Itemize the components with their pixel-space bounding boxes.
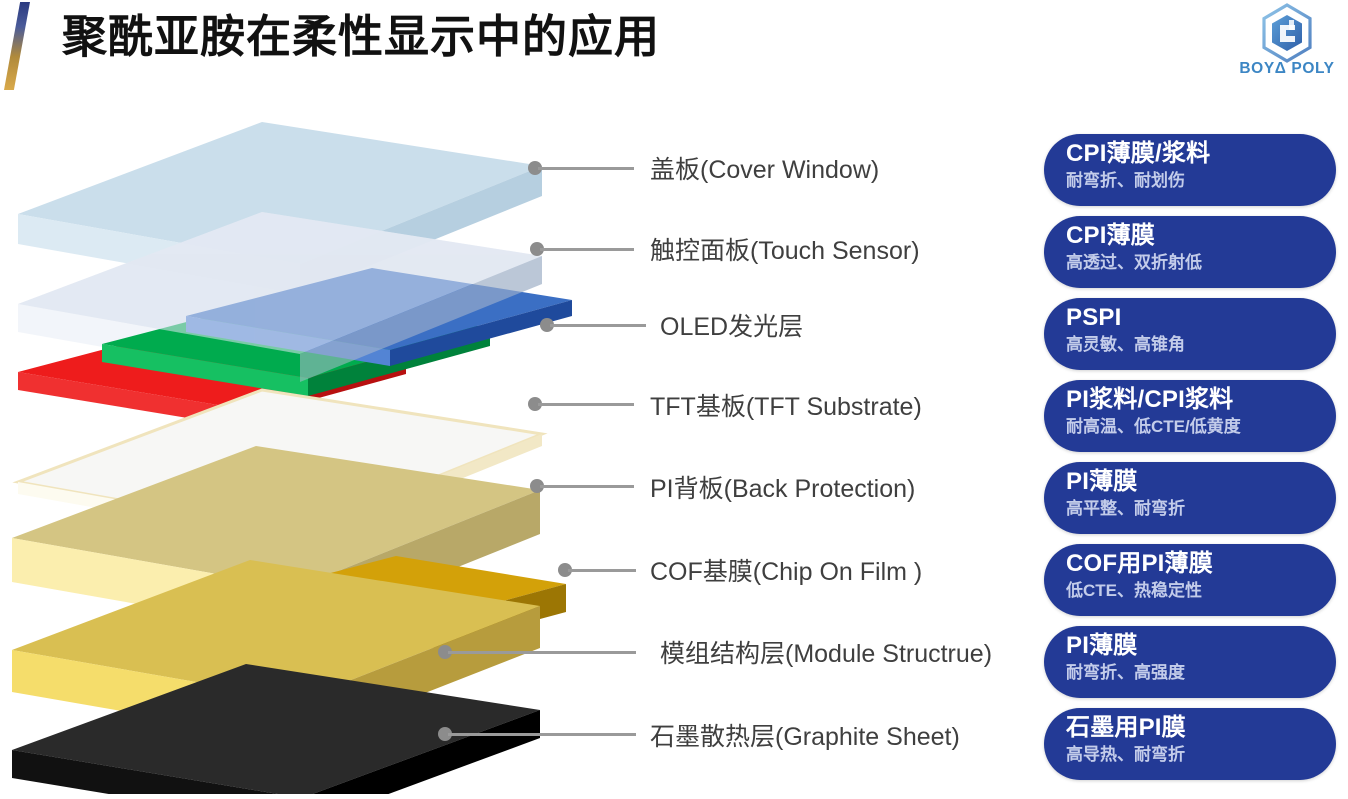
leader-line-back-protection: [540, 485, 634, 488]
material-pill-pspi[interactable]: PSPI 高灵敏、高锥角: [1044, 298, 1336, 370]
material-pill-pi-film-flat[interactable]: PI薄膜 高平整、耐弯折: [1044, 462, 1336, 534]
layer-label-tft-substrate: TFT基板(TFT Substrate): [650, 387, 922, 423]
pill-title: CPI薄膜/浆料: [1066, 139, 1336, 169]
page-title: 聚酰亚胺在柔性显示中的应用: [62, 7, 660, 67]
slide-root: 聚酰亚胺在柔性显示中的应用 BOYΔ: [0, 0, 1348, 794]
leader-line-cover-window: [538, 167, 634, 170]
material-pill-cpi-film[interactable]: CPI薄膜 高透过、双折射低: [1044, 216, 1336, 288]
pill-subtitle: 高平整、耐弯折: [1066, 497, 1336, 521]
pill-title: CPI薄膜: [1066, 221, 1336, 251]
material-pill-pi-film-strong[interactable]: PI薄膜 耐弯折、高强度: [1044, 626, 1336, 698]
leader-line-graphite-sheet: [448, 733, 636, 736]
leader-line-chip-on-film: [568, 569, 636, 572]
layer-label-module-structure: 模组结构层(Module Structrue): [660, 634, 992, 670]
pill-subtitle: 耐弯折、高强度: [1066, 661, 1336, 685]
pill-subtitle: 耐弯折、耐划伤: [1066, 169, 1336, 193]
pill-subtitle: 耐高温、低CTE/低黄度: [1066, 415, 1336, 439]
pill-subtitle: 高导热、耐弯折: [1066, 743, 1336, 767]
layer-label-cover-window: 盖板(Cover Window): [650, 150, 879, 186]
material-pill-pi-paste-cpi-paste[interactable]: PI浆料/CPI浆料 耐高温、低CTE/低黄度: [1044, 380, 1336, 452]
pill-title: PI浆料/CPI浆料: [1066, 385, 1336, 415]
layer-label-oled: OLED发光层: [660, 307, 803, 343]
leader-line-oled: [550, 324, 646, 327]
material-pill-cof-pi-film[interactable]: COF用PI薄膜 低CTE、热稳定性: [1044, 544, 1336, 616]
pill-title: 石墨用PI膜: [1066, 713, 1336, 743]
pill-title: COF用PI薄膜: [1066, 549, 1336, 579]
layer-label-chip-on-film: COF基膜(Chip On Film ): [650, 552, 922, 588]
pill-subtitle: 低CTE、热稳定性: [1066, 579, 1336, 603]
layer-label-touch-sensor: 触控面板(Touch Sensor): [650, 231, 920, 267]
pill-title: PSPI: [1066, 303, 1336, 333]
leader-line-tft-substrate: [538, 403, 634, 406]
leader-line-module-structure: [448, 651, 636, 654]
material-pill-cpi-film-paste[interactable]: CPI薄膜/浆料 耐弯折、耐划伤: [1044, 134, 1336, 206]
logo-text: BOYΔ POLY: [1228, 60, 1346, 78]
leader-line-touch-sensor: [540, 248, 634, 251]
logo: BOYΔ POLY: [1228, 2, 1346, 86]
pill-subtitle: 高透过、双折射低: [1066, 251, 1336, 275]
material-pill-graphite-pi-film[interactable]: 石墨用PI膜 高导热、耐弯折: [1044, 708, 1336, 780]
exploded-layer-stack: [0, 104, 640, 794]
diagonal-slash-accent-icon: [4, 2, 30, 90]
layer-label-graphite-sheet: 石墨散热层(Graphite Sheet): [650, 717, 960, 753]
layer-label-back-protection: PI背板(Back Protection): [650, 469, 915, 505]
pill-title: PI薄膜: [1066, 467, 1336, 497]
pill-subtitle: 高灵敏、高锥角: [1066, 333, 1336, 357]
pill-title: PI薄膜: [1066, 631, 1336, 661]
boya-poly-hexagon-logo-icon: [1256, 2, 1318, 64]
